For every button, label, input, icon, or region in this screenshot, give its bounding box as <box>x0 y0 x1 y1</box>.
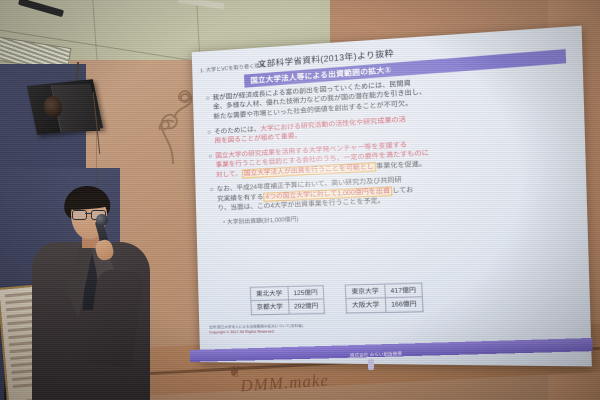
table-cell-name: 京都大学 <box>251 300 289 314</box>
table-cell-value: 125億円 <box>287 286 323 300</box>
bullet-mark: ○ <box>208 152 213 180</box>
ceiling-strip <box>178 0 224 9</box>
table-cell-value: 292億円 <box>288 299 324 313</box>
line-tail: 事業化を促進。 <box>376 160 426 170</box>
presenter <box>24 186 154 400</box>
slide: 1. 大学とVCを取り巻く環境 文部科学省資料(2013年)より抜粋 国立大学法… <box>192 26 592 367</box>
table-cell-value: 417億円 <box>384 283 422 298</box>
line-lead: 対して、 <box>216 170 242 178</box>
slide-footer: 出所:国立大学法人による出資範囲の拡大について(文科省) Copyright ©… <box>209 323 363 336</box>
table-row: 大阪大学 166億円 <box>346 297 423 312</box>
bullet-mark: ○ <box>210 186 215 214</box>
projection-screen: 1. 大学とVCを取り巻く環境 文部科学省資料(2013年)より抜粋 国立大学法… <box>192 26 592 367</box>
presentation-photo-scene: ❦ DMM.make 1. 大学とVCを取り巻く環境 文部科学省資料(2013年… <box>0 0 600 400</box>
footer-copyright: Copyright © 2017 All Rights Reserved. <box>209 329 363 336</box>
ceiling-rail <box>18 0 64 17</box>
table-cell-value: 166億円 <box>385 297 423 312</box>
wall-ornament-icon <box>150 78 196 164</box>
investment-table-right: 東京大学 417億円 大阪大学 166億円 <box>345 283 424 314</box>
table-cell-name: 東京大学 <box>345 284 385 299</box>
investment-table-left: 東北大学 125億円 京都大学 292億円 <box>250 285 325 315</box>
screen-pull-knob <box>368 359 374 370</box>
university-investment-tables: 東北大学 125億円 京都大学 292億円 東京大学 417億円 大阪大学 <box>250 280 541 315</box>
table-cell-name: 東北大学 <box>250 286 288 300</box>
line-tail: してお <box>392 186 413 194</box>
table-row: 京都大学 292億円 <box>251 299 325 314</box>
slide-body: ○ 我が国が経済成長による富の創出を図っていくためには、民間資 金、多様な人材、… <box>206 68 568 230</box>
bullet-mark: ○ <box>207 128 212 147</box>
bullet-mark: ○ <box>206 94 211 122</box>
table-cell-name: 大阪大学 <box>346 298 386 313</box>
